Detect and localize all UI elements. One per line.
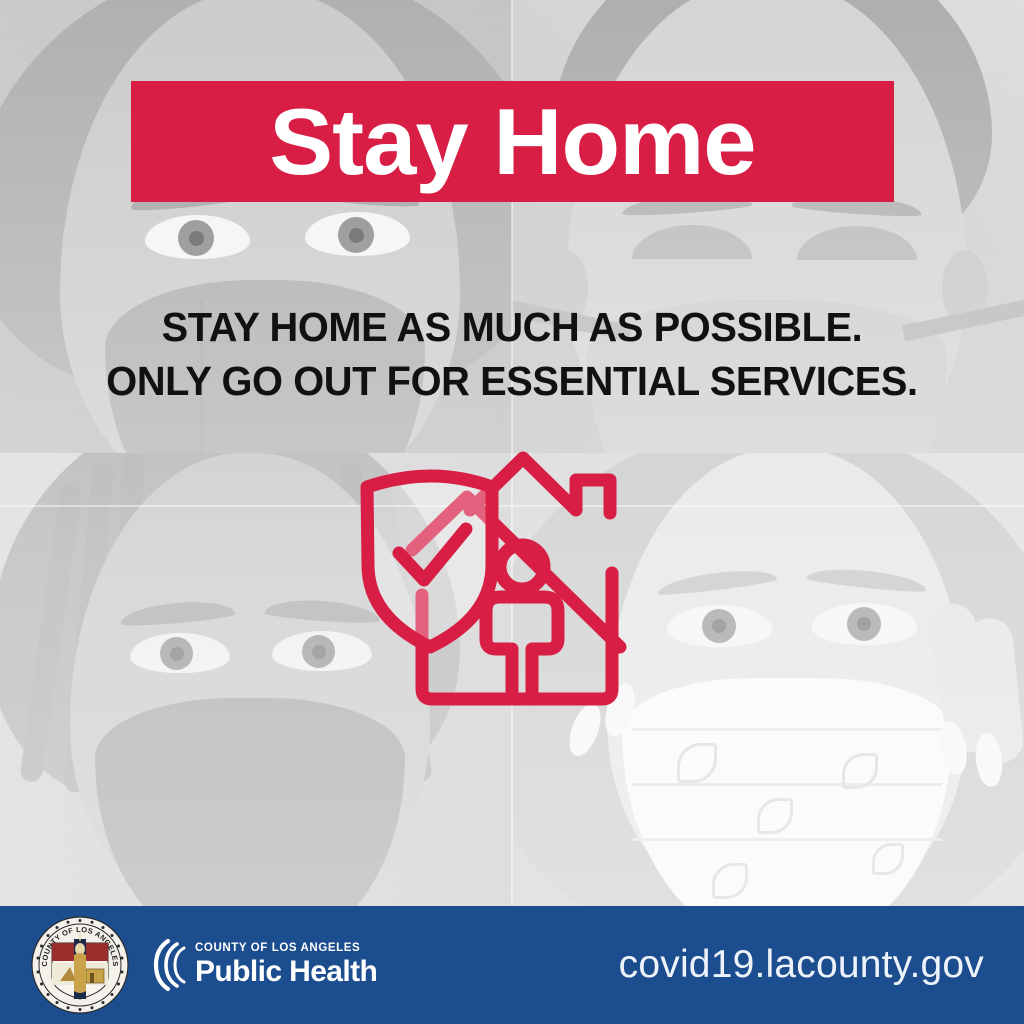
pupil-right (312, 645, 326, 659)
mask-pleat (632, 838, 942, 841)
public-health-wave-icon (152, 939, 186, 991)
banner-title: Stay Home (269, 95, 755, 189)
person-body (486, 597, 558, 699)
pupil-left (189, 231, 204, 246)
public-health-logo: COUNTY OF LOS ANGELES Public Health (152, 939, 377, 991)
footer-branding: COUNTY OF LOS ANGELES CALIFORNIA (0, 915, 377, 1015)
logo-county-line: COUNTY OF LOS ANGELES (195, 943, 377, 955)
shield-outline (367, 476, 492, 647)
mask-pleat (632, 728, 942, 731)
stay-home-banner: Stay Home (131, 81, 894, 202)
headline-block: STAY HOME AS MUCH AS POSSIBLE. ONLY GO O… (0, 300, 1024, 408)
covid-website-url[interactable]: covid19.lacounty.gov (619, 943, 984, 987)
mask-pleat (632, 783, 942, 786)
headline-line-2: ONLY GO OUT FOR ESSENTIAL SERVICES. (15, 354, 1008, 408)
stay-home-icon (352, 425, 672, 725)
poster-canvas: Stay Home STAY HOME AS MUCH AS POSSIBLE.… (0, 0, 1024, 1024)
footer-bar: COUNTY OF LOS ANGELES CALIFORNIA (0, 906, 1024, 1024)
pupil-left (170, 647, 184, 661)
pupil-left (712, 619, 726, 633)
los-angeles-county-seal: COUNTY OF LOS ANGELES CALIFORNIA (30, 915, 130, 1015)
headline-line-1: STAY HOME AS MUCH AS POSSIBLE. (15, 300, 1008, 354)
public-health-wordmark: COUNTY OF LOS ANGELES Public Health (195, 943, 377, 988)
pupil-right (857, 617, 871, 631)
pupil-right (349, 228, 364, 243)
face-mask-shape (95, 698, 405, 906)
seal-shield (52, 933, 108, 999)
stay-home-shield-house-icon (352, 425, 672, 725)
logo-title-line: Public Health (195, 957, 377, 987)
